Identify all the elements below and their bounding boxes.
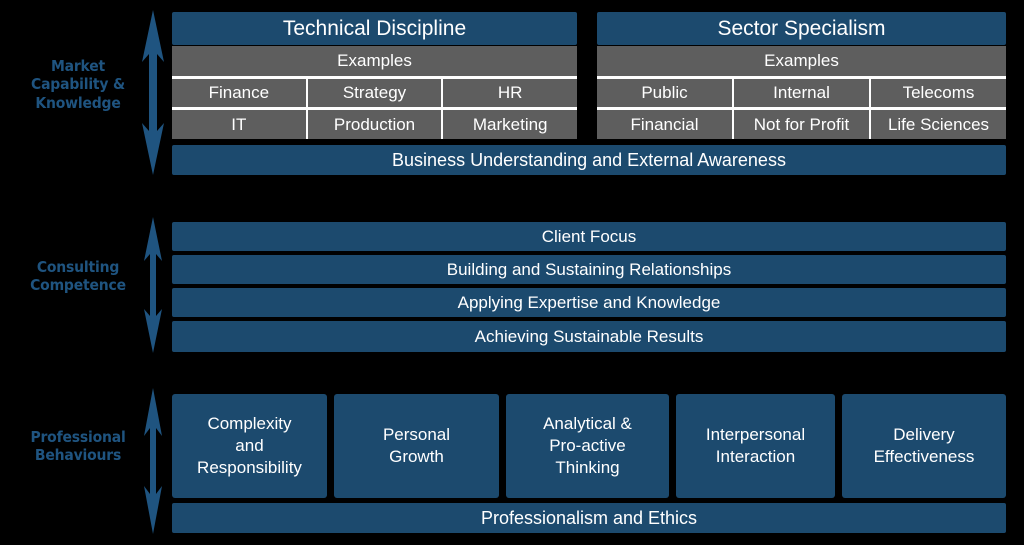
example-cell[interactable]: Marketing xyxy=(441,110,577,139)
bar-achieving-sustainable-results[interactable]: Achieving Sustainable Results xyxy=(172,321,1006,352)
double-headed-vertical-arrow-icon xyxy=(139,217,167,353)
example-row-1-sector: Public Internal Telecoms xyxy=(597,79,1006,107)
panel-subheader-sector-specialism: Examples xyxy=(597,46,1006,76)
group-label-market-capability: Market Capability & Knowledge xyxy=(22,57,134,112)
example-cell[interactable]: IT xyxy=(172,110,306,139)
example-cell[interactable]: Financial xyxy=(597,110,732,139)
box-personal-growth[interactable]: Personal Growth xyxy=(334,394,499,498)
box-complexity-and-responsibility[interactable]: Complexity and Responsibility xyxy=(172,394,327,498)
example-cell[interactable]: Production xyxy=(306,110,442,139)
example-cell[interactable]: Strategy xyxy=(306,79,442,107)
double-headed-vertical-arrow-icon xyxy=(136,10,170,175)
panel-subheader-technical-discipline: Examples xyxy=(172,46,577,76)
diagram-canvas: Market Capability & Knowledge Technical … xyxy=(0,0,1024,545)
bar-building-and-sustaining-relationships[interactable]: Building and Sustaining Relationships xyxy=(172,255,1006,284)
example-row-1-technical: Finance Strategy HR xyxy=(172,79,577,107)
bar-client-focus[interactable]: Client Focus xyxy=(172,222,1006,251)
bar-business-understanding[interactable]: Business Understanding and External Awar… xyxy=(172,145,1006,175)
group-label-consulting-competence: Consulting Competence xyxy=(22,258,134,295)
example-cell[interactable]: HR xyxy=(441,79,577,107)
group-label-professional-behaviours: Professional Behaviours xyxy=(22,428,134,465)
box-delivery-effectiveness[interactable]: Delivery Effectiveness xyxy=(842,394,1006,498)
bar-applying-expertise-and-knowledge[interactable]: Applying Expertise and Knowledge xyxy=(172,288,1006,317)
example-cell[interactable]: Internal xyxy=(732,79,869,107)
double-headed-vertical-arrow-icon xyxy=(139,388,167,534)
panel-header-sector-specialism: Sector Specialism xyxy=(597,12,1006,45)
panel-technical-discipline: Technical Discipline Examples Finance St… xyxy=(172,12,577,142)
example-row-2-sector: Financial Not for Profit Life Sciences xyxy=(597,110,1006,139)
panel-sector-specialism: Sector Specialism Examples Public Intern… xyxy=(597,12,1006,142)
example-row-2-technical: IT Production Marketing xyxy=(172,110,577,139)
example-cell[interactable]: Life Sciences xyxy=(869,110,1006,139)
example-cell[interactable]: Public xyxy=(597,79,732,107)
example-cell[interactable]: Telecoms xyxy=(869,79,1006,107)
box-analytical-and-pro-active-thinking[interactable]: Analytical & Pro-active Thinking xyxy=(506,394,669,498)
bar-professionalism-and-ethics[interactable]: Professionalism and Ethics xyxy=(172,503,1006,533)
example-cell[interactable]: Not for Profit xyxy=(732,110,869,139)
example-cell[interactable]: Finance xyxy=(172,79,306,107)
panel-header-technical-discipline: Technical Discipline xyxy=(172,12,577,45)
box-interpersonal-interaction[interactable]: Interpersonal Interaction xyxy=(676,394,835,498)
